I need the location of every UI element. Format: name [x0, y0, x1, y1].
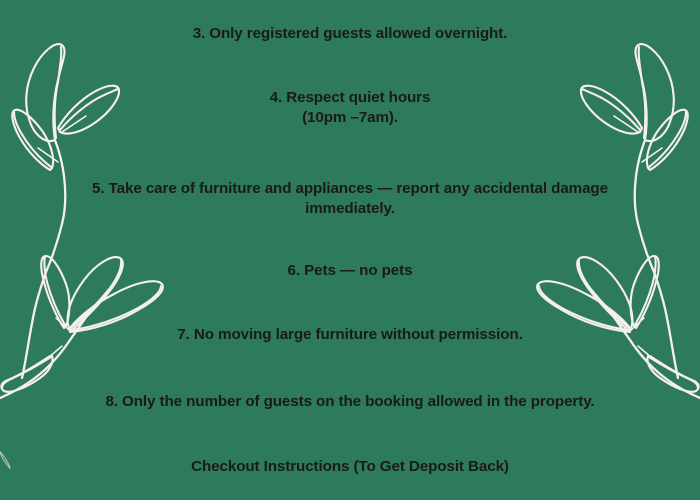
rule-item-6: 6. Pets — no pets: [62, 261, 638, 281]
checkout-instructions-heading: Checkout Instructions (To Get Deposit Ba…: [62, 457, 638, 477]
rule-item-5: 5. Take care of furniture and appliances…: [62, 179, 638, 219]
rule-item-4: 4. Respect quiet hours (10pm –7am).: [62, 88, 638, 128]
rule-item-3: 3. Only registered guests allowed overni…: [62, 24, 638, 44]
rule-item-8: 8. Only the number of guests on the book…: [62, 392, 638, 412]
rules-text-stack: 3. Only registered guests allowed overni…: [0, 0, 700, 500]
rule-item-7: 7. No moving large furniture without per…: [62, 325, 638, 345]
house-rules-poster: 3. Only registered guests allowed overni…: [0, 0, 700, 500]
